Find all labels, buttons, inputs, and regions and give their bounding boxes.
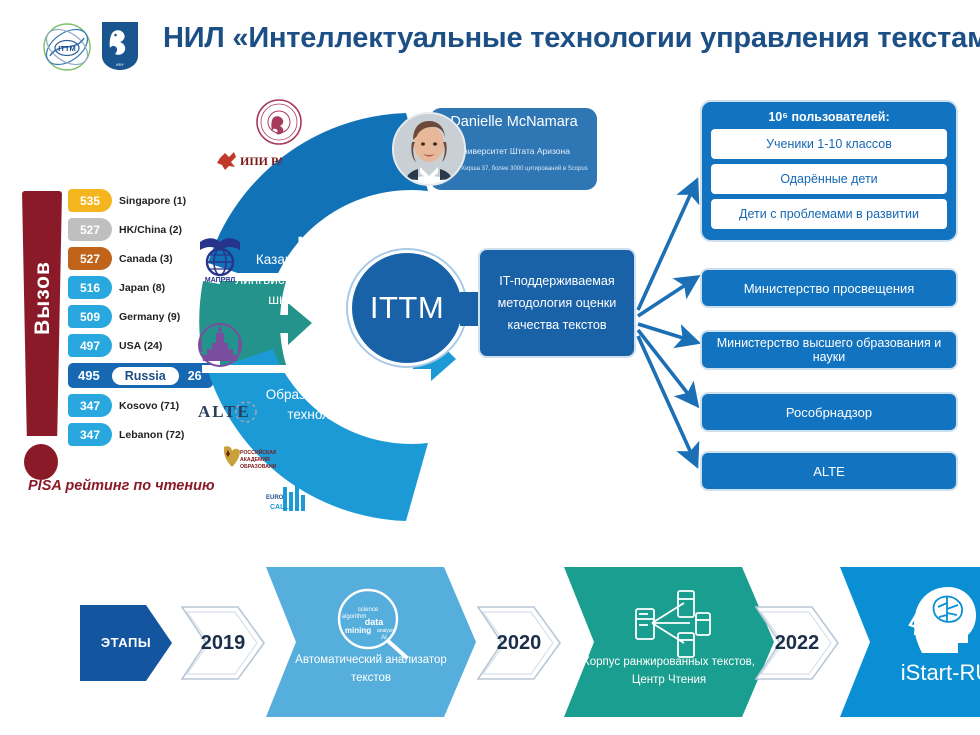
pisa-country: Kosovo (71) <box>119 400 179 412</box>
pisa-score: 347 <box>68 423 112 446</box>
methodology-line-3: качества текстов <box>507 314 606 336</box>
pisa-country: HK/China (2) <box>119 224 182 236</box>
eurocall-logo-icon: EURO CALL <box>265 483 309 513</box>
timeline-year-2020: 2020 <box>478 607 560 679</box>
pisa-country-russia: Russia <box>112 367 179 385</box>
methodology-line-1: IT-поддерживаемая <box>499 270 614 292</box>
pisa-country: Lebanon (72) <box>119 429 184 441</box>
stakeholder-box-ministry-of-higher-education[interactable]: Министерство высшего образования и науки <box>700 330 958 370</box>
challenge-exclamation-icon: Вызов <box>22 191 62 436</box>
server-network-icon <box>626 589 718 659</box>
timeline: ЭТАПЫ 2019 science algorithm data mining… <box>70 555 920 715</box>
timeline-year-2022: 2022 <box>756 607 838 679</box>
svg-text:AI: AI <box>381 635 387 641</box>
methodology-box: IT-поддерживаемая методология оценки кач… <box>478 248 636 358</box>
svg-text:mining: mining <box>345 626 371 635</box>
ittm-circle: ITTM <box>352 253 462 363</box>
timeline-step-corpus-label: Корпус ранжированных текстов, Центр Чтен… <box>583 653 755 689</box>
svg-text:ИПИ РАН: ИПИ РАН <box>240 154 282 168</box>
timeline-step-istart-label: iStart-RU <box>901 664 980 682</box>
timeline-step-corpus: Корпус ранжированных текстов, Центр Чтен… <box>564 567 774 717</box>
timeline-step-auto-analyzer-label: Автоматический анализатор текстов <box>295 651 447 687</box>
stakeholder-box-rosobrnadzor[interactable]: Рособрнадзор <box>700 392 958 432</box>
header: ITTM КФУ НИЛ «Интеллектуальные технологи… <box>0 0 980 82</box>
svg-text:ITTM: ITTM <box>58 44 76 53</box>
svg-text:EURO: EURO <box>266 495 284 501</box>
svg-text:ОБРАЗОВАНИЯ: ОБРАЗОВАНИЯ <box>240 464 276 470</box>
expert-avatar <box>392 112 466 186</box>
stakeholder-box-ministry-of-education[interactable]: Министерство просвещения <box>700 268 958 308</box>
svg-text:РОССИЙСКАЯ: РОССИЙСКАЯ <box>240 448 276 456</box>
pisa-row: 535 Singapore (1) <box>68 188 228 213</box>
pisa-score: 497 <box>68 334 112 357</box>
magnifier-wordcloud-icon: science algorithm data mining analysis A… <box>328 585 414 661</box>
page-title: НИЛ «Интеллектуальные технологии управле… <box>163 22 980 55</box>
svg-text:analysis: analysis <box>377 628 396 634</box>
kfu-logo-icon: КФУ <box>100 20 140 72</box>
slide-canvas: ITTM КФУ НИЛ «Интеллектуальные технологи… <box>0 0 980 735</box>
pisa-score: 516 <box>68 276 112 299</box>
methodology-line-2: методология оценки <box>498 292 617 314</box>
users-group-header: 10⁶ пользователей: <box>711 110 947 124</box>
svg-text:КФУ: КФУ <box>116 62 124 67</box>
timeline-step-istart: iStart-RU <box>840 567 980 717</box>
svg-text:МАПРЯЛ: МАПРЯЛ <box>205 277 235 284</box>
pisa-score-russia: 495 <box>70 368 109 383</box>
pisa-country: Japan (8) <box>119 282 165 294</box>
svg-text:АКАДЕМИЯ: АКАДЕМИЯ <box>240 457 270 463</box>
svg-text:science: science <box>358 607 379 613</box>
stakeholder-box-alte[interactable]: ALTE <box>700 451 958 491</box>
timeline-year-2019-label: 2019 <box>201 632 246 655</box>
pisa-country: Canada (3) <box>119 253 173 265</box>
maprjal-logo-icon: МАПРЯЛ <box>196 228 244 284</box>
pisa-score: 527 <box>68 218 112 241</box>
pisa-country: USA (24) <box>119 340 162 352</box>
pisa-country: Germany (9) <box>119 311 180 323</box>
svg-text:CALL: CALL <box>270 504 289 511</box>
pisa-score: 347 <box>68 394 112 417</box>
kfu-seal-logo-icon <box>255 98 303 146</box>
svg-text:algorithm: algorithm <box>342 614 367 620</box>
timeline-stages-label: ЭТАПЫ <box>101 634 151 652</box>
svg-text:ALTE: ALTE <box>198 402 251 421</box>
timeline-step-auto-analyzer: science algorithm data mining analysis A… <box>266 567 476 717</box>
timeline-year-2020-label: 2020 <box>497 632 542 655</box>
pisa-country: Singapore (1) <box>119 195 186 207</box>
users-item-schoolchildren[interactable]: Ученики 1-10 классов <box>711 129 947 159</box>
pisa-score: 535 <box>68 189 112 212</box>
rao-logo-icon: РОССИЙСКАЯ АКАДЕМИЯ ОБРАЗОВАНИЯ <box>214 443 276 473</box>
msu-logo-icon <box>197 318 243 372</box>
pisa-caption: PISA рейтинг по чтению <box>28 478 215 494</box>
brain-head-icon <box>902 581 980 655</box>
ittm-logo-icon: ITTM <box>42 22 92 72</box>
alte-logo-icon: ALTE <box>196 395 258 427</box>
pisa-score: 509 <box>68 305 112 328</box>
users-group-box: 10⁶ пользователей: Ученики 1-10 классов … <box>700 100 958 242</box>
timeline-stages-chevron: ЭТАПЫ <box>80 605 172 681</box>
ipiran-logo-icon: ИПИ РАН <box>216 148 282 172</box>
expert-card: Danielle McNamara Университет Штата Ариз… <box>392 108 597 192</box>
timeline-year-2019: 2019 <box>182 607 264 679</box>
challenge-label: Вызов <box>31 233 55 363</box>
timeline-year-2022-label: 2022 <box>775 632 820 655</box>
users-item-gifted-children[interactable]: Одарённые дети <box>711 164 947 194</box>
challenge-exclamation-dot-icon <box>24 444 58 480</box>
users-item-special-needs-children[interactable]: Дети с проблемами в развитии <box>711 199 947 229</box>
pisa-score: 527 <box>68 247 112 270</box>
